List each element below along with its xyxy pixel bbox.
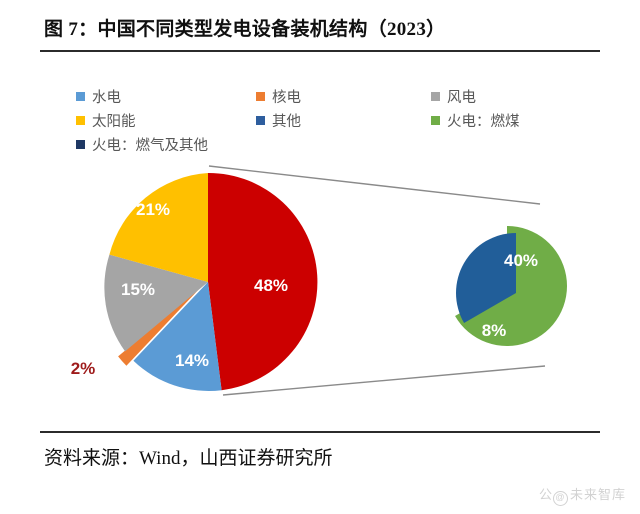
source-note: 资料来源：Wind，山西证券研究所 bbox=[44, 443, 332, 470]
pie-label-shuidian: 14% bbox=[175, 351, 209, 370]
at-icon: @ bbox=[553, 491, 568, 506]
source-divider bbox=[40, 431, 600, 433]
pie-label-huodian: 48% bbox=[254, 276, 288, 295]
pie-label-hedian: 2% bbox=[71, 359, 96, 378]
watermark: 公@未来智库 bbox=[539, 484, 626, 506]
pie-label-taiyangneng: 21% bbox=[136, 200, 170, 219]
page-title: 图 7：中国不同类型发电设备装机结构（2023） bbox=[44, 14, 445, 41]
pie-label-breakout-ranmei: 40% bbox=[504, 251, 538, 270]
title-divider bbox=[40, 50, 600, 52]
watermark-prefix: 公 bbox=[539, 487, 553, 502]
pie-label-fengdian: 15% bbox=[121, 280, 155, 299]
pie-label-breakout-ranqi: 8% bbox=[482, 321, 507, 340]
chart-area: 水电 核电 风电 太阳能 其他 火电：燃煤 火电：燃气及其他 bbox=[40, 58, 600, 426]
watermark-text: 未来智库 bbox=[570, 487, 626, 502]
pie-chart-graphic: 48% 14% 2% 15% 21% 40% 8% bbox=[40, 58, 600, 426]
